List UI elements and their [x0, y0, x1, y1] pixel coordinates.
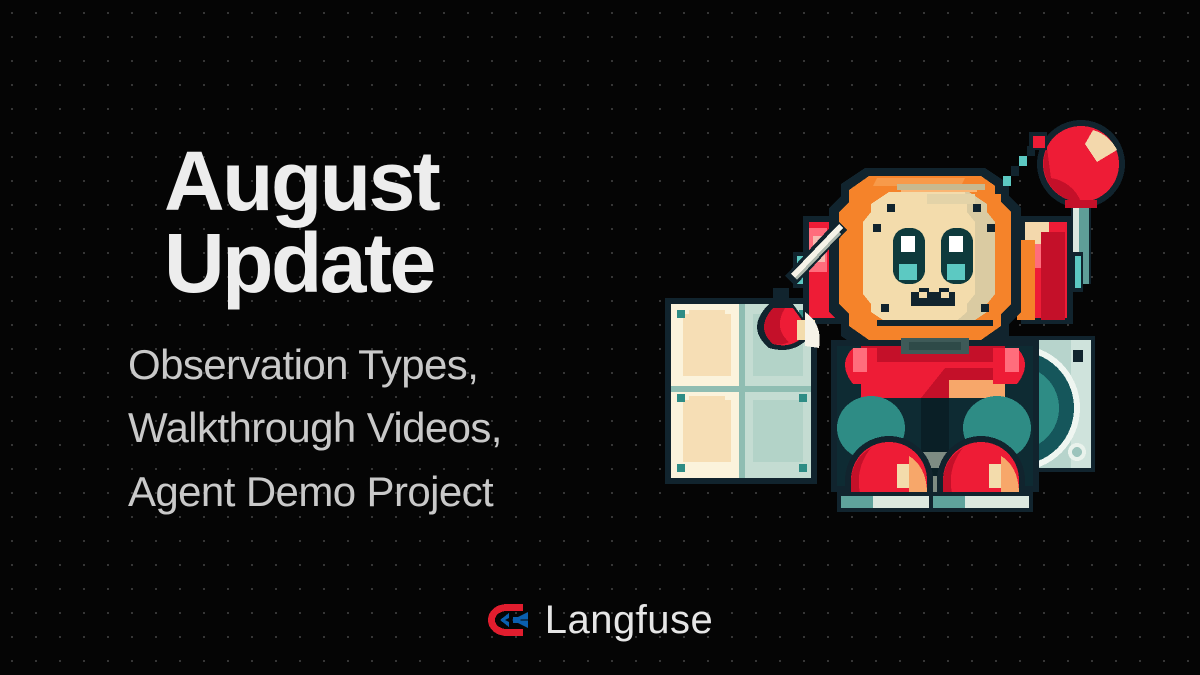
langfuse-logo-icon [487, 603, 531, 637]
illustration-container [645, 112, 1145, 520]
promo-banner: August Update Observation Types, Walkthr… [0, 0, 1200, 675]
hero-text-block: August Update Observation Types, Walkthr… [128, 140, 628, 524]
page-subtitle: Observation Types, Walkthrough Videos, A… [128, 305, 628, 524]
brand-name: Langfuse [545, 600, 714, 640]
brand-lockup: Langfuse [0, 600, 1200, 640]
page-title: August Update [128, 140, 628, 305]
pixel-art-robot-mascot-icon [645, 112, 1145, 520]
